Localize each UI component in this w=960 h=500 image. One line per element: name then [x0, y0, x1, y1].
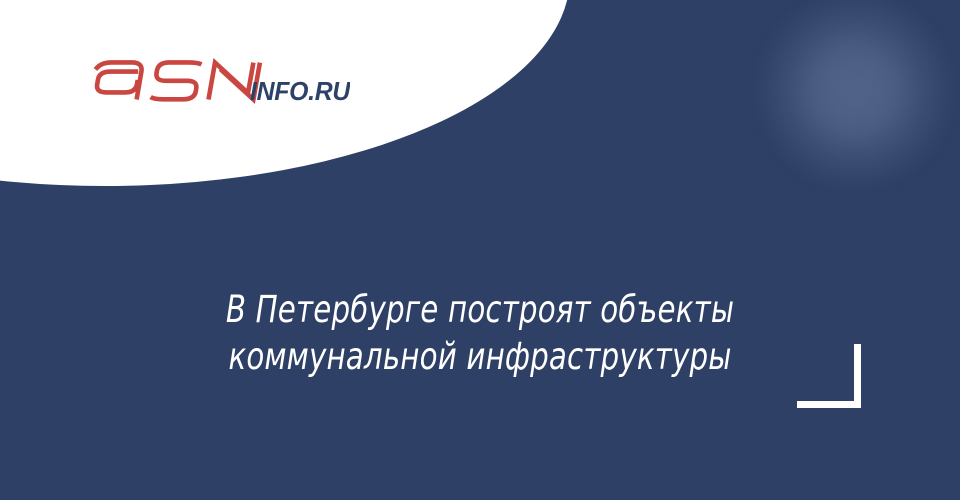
svg-text:INFO.RU: INFO.RU [250, 76, 350, 106]
page-title-line-2: коммунальной инфраструктуры [58, 333, 903, 380]
radial-glow-decoration [755, 0, 955, 190]
news-card: INFO.RU В Петербурге построят объекты ко… [0, 0, 960, 500]
page-title: В Петербурге построят объекты коммунальн… [58, 286, 903, 380]
corner-bracket-horizontal [797, 401, 861, 408]
corner-bracket-vertical [854, 344, 861, 408]
asn-info-logo[interactable]: INFO.RU [88, 52, 350, 110]
asn-info-logo-icon: INFO.RU [88, 52, 350, 110]
corner-bracket-icon [797, 344, 861, 408]
page-title-line-1: В Петербурге построят объекты [58, 286, 903, 333]
